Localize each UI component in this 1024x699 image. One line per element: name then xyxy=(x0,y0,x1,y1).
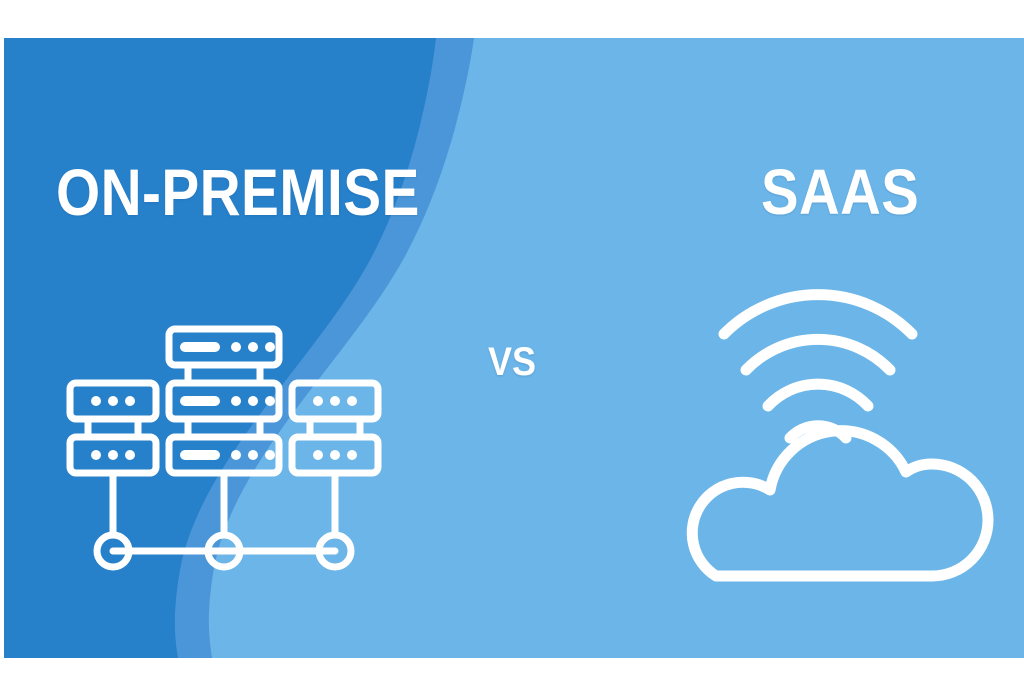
wifi-arcs-icon xyxy=(724,295,912,438)
server-stack-right xyxy=(292,383,378,473)
page-title-on-premise: ON-PREMISE xyxy=(56,159,420,225)
network-connections xyxy=(97,473,351,567)
page-title-saas: SAAS xyxy=(761,160,919,224)
server-stack-left xyxy=(70,383,156,473)
cloud-shape-icon xyxy=(692,431,988,576)
cloud-wifi-icon xyxy=(680,286,1000,611)
versus-label: VS xyxy=(488,342,536,382)
server-stack-center xyxy=(169,329,279,473)
server-rack-network-icon xyxy=(64,323,384,578)
banner-stage: ON-PREMISE SAAS VS xyxy=(0,0,1024,699)
comparison-banner: ON-PREMISE SAAS VS xyxy=(4,38,1024,658)
